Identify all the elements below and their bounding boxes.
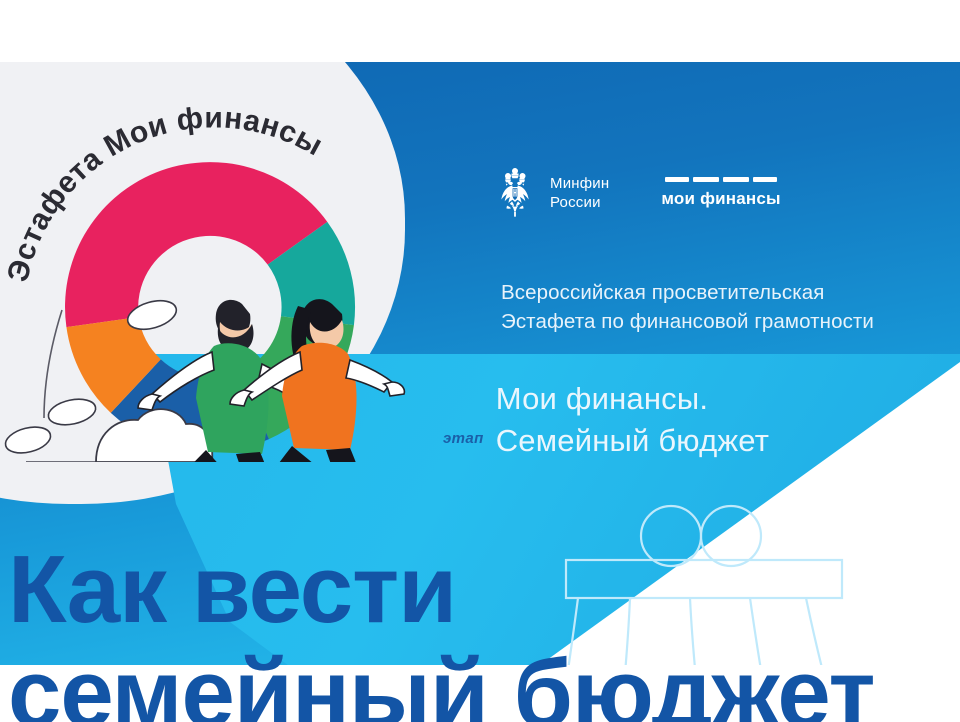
stage-title: Мои финансы. Семейный бюджет — [496, 378, 769, 461]
stage-block: этап Мои финансы. Семейный бюджет — [443, 378, 769, 461]
russian-coat-of-arms-eagle-icon — [492, 167, 538, 219]
headline-line-1: Как вести — [8, 536, 456, 643]
moi-finansy-dashes-icon — [665, 177, 777, 182]
event-description: Всероссийская просветительская Эстафета … — [501, 278, 874, 336]
swoosh-line — [44, 310, 62, 418]
poster-root: Эстафета Мои финансы — [0, 0, 960, 722]
main-headline: Как вести семейный бюджет — [8, 452, 952, 722]
moi-finansy-logo: мои финансы — [661, 177, 780, 209]
ministry-label: Минфин России — [550, 174, 609, 212]
moi-finansy-label: мои финансы — [661, 189, 780, 209]
estafeta-illustration: Эстафета Мои финансы — [0, 62, 430, 462]
logo-row: Минфин России мои финансы — [492, 167, 781, 219]
headline-line-2: семейный бюджет — [8, 648, 952, 722]
